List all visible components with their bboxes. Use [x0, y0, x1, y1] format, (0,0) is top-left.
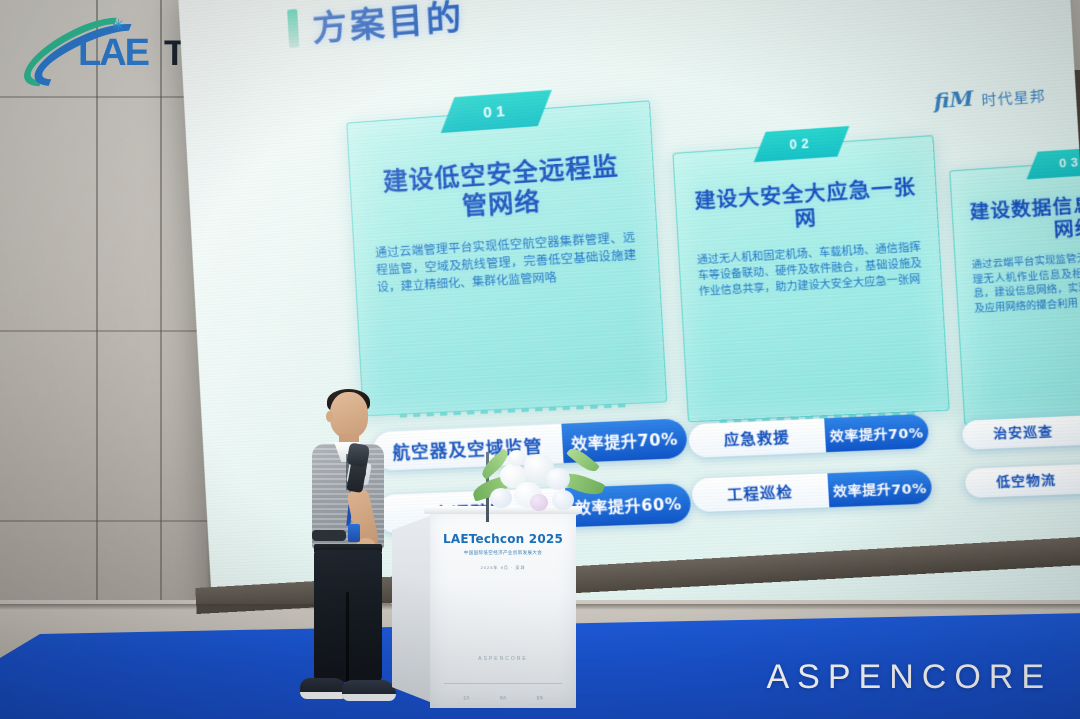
card-title: 建设低空安全远程监管网络 — [370, 151, 633, 228]
presentation-photo: ✳ LAE Techcon 方案目的 fiM 时代星邦 01 建设低空安全远程监… — [0, 0, 1080, 719]
flower-arrangement — [470, 446, 606, 530]
presenter-ear — [326, 411, 333, 422]
metric-pill-value: 效率提升70% — [824, 414, 929, 452]
slide-card-01: 01 建设低空安全远程监管网络 通过云端管理平台实现低空航空器集群管理、远程监管… — [346, 100, 667, 416]
presenter — [290, 392, 408, 710]
metric-pill-label: 工程巡检 — [691, 473, 829, 512]
metric-pill-label: 应急救援 — [688, 418, 826, 457]
metric-pill-value: 效率提升70% — [827, 469, 932, 507]
podium-divider — [444, 683, 562, 684]
podium-footer-item: 协办 — [500, 695, 507, 700]
podium-side — [392, 516, 430, 702]
card-title: 建设大安全大应急一张网 — [693, 176, 919, 239]
presenter-head — [330, 392, 368, 438]
podium-footer-item: 支持 — [536, 695, 543, 700]
slide-card-03: 03 建设数据信息共享处理网络 通过云端平台实现监管无人机作业、存储及处理无人机… — [949, 154, 1080, 425]
podium-footer: 主办 协办 支持 — [448, 694, 558, 700]
podium-subtitle: 中国国际低空经济产业创新发展大会 — [430, 550, 576, 556]
card-body: 通过云端管理平台实现低空航空器集群管理、远程监管，空域及航线管理，完善低空基础设… — [375, 228, 638, 297]
presenter-leg-split — [346, 592, 349, 684]
slide-corner-logo-name: 时代星邦 — [981, 84, 1047, 109]
pill-group-column-2: 应急救援 效率提升70% 工程巡检 效率提升70% — [688, 414, 932, 512]
pill-group-column-3: 治安巡查 效率提升80% 低空物流 效率提升80% — [962, 412, 1080, 498]
presenter-badge — [348, 524, 360, 542]
podium-face: LAETechcon 2025 中国国际低空经济产业创新发展大会 2025年 9… — [430, 512, 576, 708]
podium-logo-text: LAETechcon 2025 — [430, 532, 576, 546]
metric-pill-label: 低空物流 — [965, 464, 1080, 498]
podium-brand: ASPENCORE — [430, 656, 576, 662]
card-title: 建设数据信息共享处理网络 — [968, 189, 1080, 247]
logo-spark-icon: ✳ — [112, 18, 124, 30]
title-accent-bar — [287, 8, 299, 47]
card-body: 通过无人机和固定机场、车载机场、通信指挥车等设备联动、硬件及软件融合，基础设施及… — [697, 240, 923, 300]
podium-date: 2025年 9月 · 深圳 — [430, 565, 576, 571]
podium: LAETechcon 2025 中国国际低空经济产业创新发展大会 2025年 9… — [424, 506, 582, 708]
podium-branding: LAETechcon 2025 中国国际低空经济产业创新发展大会 2025年 9… — [430, 532, 576, 571]
metric-pill: 低空物流 效率提升80% — [965, 461, 1080, 498]
metric-pill-label: 治安巡查 — [962, 416, 1080, 450]
podium-footer-item: 主办 — [463, 695, 470, 700]
aspencore-watermark: ASPENCORE — [767, 658, 1053, 697]
card-body: 通过云端平台实现监管无人机作业、存储及处理无人机作业信息及相关数据，共享数据信息… — [972, 248, 1080, 318]
microphone-head-icon — [346, 442, 370, 467]
slide-corner-logo-mark: fiM — [933, 87, 974, 113]
presenter-sleeve-cuff — [312, 530, 346, 541]
slide-card-02: 02 建设大安全大应急一张网 通过无人机和固定机场、车载机场、通信指挥车等设备联… — [672, 135, 949, 422]
logo-lae-text: LAE — [78, 32, 148, 75]
